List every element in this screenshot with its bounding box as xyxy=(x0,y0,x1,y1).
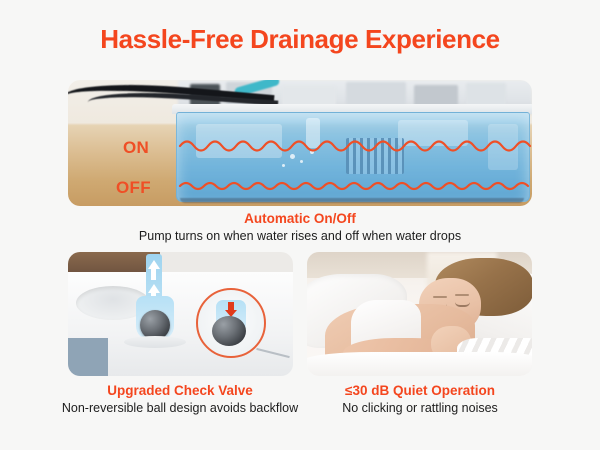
caption-subtext: Non-reversible ball design avoids backfl… xyxy=(40,401,320,415)
check-valve-photo xyxy=(68,252,293,376)
caption-headline: Upgraded Check Valve xyxy=(40,383,320,398)
feature-image-upgraded-check-valve xyxy=(68,252,293,376)
reservoir-photo: ON OFF xyxy=(68,80,532,206)
flow-arrow-stem xyxy=(151,268,156,280)
backflow-callout xyxy=(196,288,266,358)
feature-image-automatic-on-off: ON OFF xyxy=(68,80,532,206)
sleeping-woman-photo xyxy=(307,252,532,376)
cabinet-edge xyxy=(68,338,108,376)
feature-image-quiet-operation xyxy=(307,252,532,376)
caption-subtext: Pump turns on when water rises and off w… xyxy=(0,229,600,243)
eyebrow xyxy=(433,296,447,298)
caption-quiet-operation: ≤30 dB Quiet Operation No clicking or ra… xyxy=(280,383,560,415)
caption-subtext: No clicking or rattling noises xyxy=(280,401,560,415)
water-level-off-label: OFF xyxy=(116,178,151,198)
caption-automatic-on-off: Automatic On/Off Pump turns on when wate… xyxy=(0,211,600,243)
page-title: Hassle-Free Drainage Experience xyxy=(0,24,600,55)
eyebrow xyxy=(455,294,469,296)
callout-valve-ball xyxy=(212,316,246,346)
caption-upgraded-check-valve: Upgraded Check Valve Non-reversible ball… xyxy=(40,383,320,415)
caption-headline: ≤30 dB Quiet Operation xyxy=(280,383,560,398)
duvet xyxy=(307,352,532,376)
water-level-on-label: ON xyxy=(123,138,149,158)
flow-arrow-up-icon xyxy=(148,260,160,269)
flow-arrow-up-icon xyxy=(148,284,160,293)
caption-headline: Automatic On/Off xyxy=(0,211,600,226)
valve-collar xyxy=(124,336,186,348)
